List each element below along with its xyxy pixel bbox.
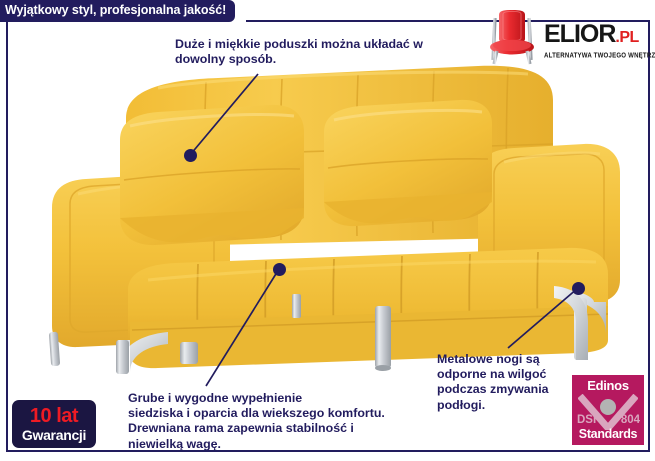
warranty-badge: 10 lat Gwarancji — [12, 400, 96, 448]
frame-border-right — [648, 20, 650, 452]
red-chair-icon — [482, 8, 542, 66]
brand-logo[interactable]: ELIOR .PL ALTERNATYWA TWOJEGO WNĘTRZA — [482, 8, 648, 70]
edinos-standards-label: Standards — [572, 427, 644, 441]
callout-dot-cushions — [184, 149, 197, 162]
warranty-years: 10 lat — [30, 406, 78, 426]
frame-border-left — [6, 20, 8, 452]
logo-name-row: ELIOR .PL — [544, 22, 648, 50]
product-infographic: Duże i miękkie poduszki można układać w … — [0, 0, 655, 461]
throw-pillow-left — [120, 105, 304, 245]
frame-border-bottom — [6, 450, 650, 452]
logo-name: ELIOR — [544, 22, 615, 47]
logo-tagline: ALTERNATYWA TWOJEGO WNĘTRZA — [544, 51, 648, 60]
annotation-filling: Grube i wygodne wypełnienie siedziska i … — [128, 391, 448, 452]
page-title: Wyjątkowy styl, profesjonalna jakość! — [0, 0, 235, 22]
logo-wordmark: ELIOR .PL ALTERNATYWA TWOJEGO WNĘTRZA — [544, 22, 648, 58]
warranty-label: Gwarancji — [22, 428, 86, 442]
annotation-legs: Metalowe nogi są odporne na wilgoć podcz… — [437, 352, 577, 413]
callout-dot-filling — [273, 263, 286, 276]
annotation-cushions: Duże i miękkie poduszki można układać w … — [175, 37, 475, 67]
throw-pillow-right — [324, 100, 492, 226]
edinos-standards-badge: Edinos DSI 804 Standards — [572, 375, 644, 445]
logo-domain: .PL — [615, 25, 638, 50]
edinos-title: Edinos — [572, 378, 644, 393]
callout-dot-legs — [572, 282, 585, 295]
edinos-dsi: DSI — [577, 414, 596, 426]
edinos-code: 804 — [621, 414, 640, 426]
